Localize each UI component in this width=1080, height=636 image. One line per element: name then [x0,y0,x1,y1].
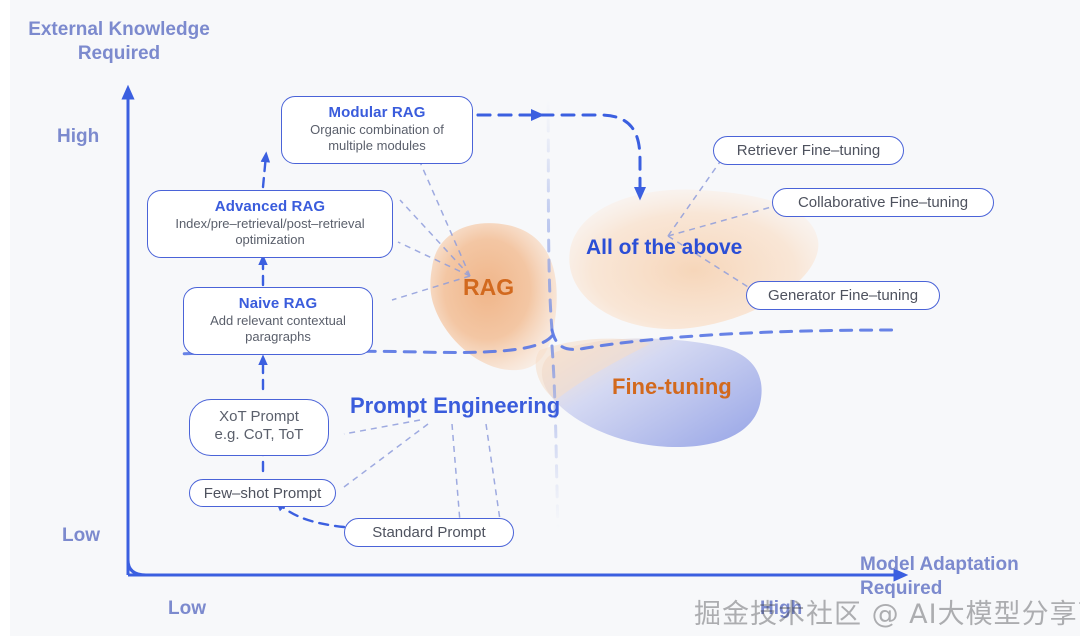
node-advanced-rag[interactable]: Advanced RAG Index/pre–retrieval/post–re… [147,190,393,258]
node-modular-rag[interactable]: Modular RAG Organic combination of multi… [281,96,473,164]
y-axis-title: External Knowledge Required [14,18,224,66]
x-axis-tick-low: Low [168,598,206,620]
node-advanced-rag-title: Advanced RAG [156,198,384,216]
leader-pe-extra [486,424,500,520]
region-label-prompt-engineering: Prompt Engineering [350,393,560,419]
region-label-rag: RAG [463,274,514,301]
pill-standard-prompt[interactable]: Standard Prompt [344,518,514,547]
node-xot-prompt-line1: XoT Prompt [198,408,320,426]
watermark: 掘金技术社区 @ AI大模型分享营 [694,592,1080,631]
node-xot-prompt[interactable]: XoT Prompt e.g. CoT, ToT [189,399,329,456]
y-axis-tick-low: Low [62,525,100,547]
leader-pe-fewshot [340,424,428,490]
pill-retriever-fine-tuning[interactable]: Retriever Fine–tuning [713,136,904,165]
region-label-all-of-the-above: All of the above [586,236,742,260]
pill-generator-fine-tuning-label: Generator Fine–tuning [768,287,918,304]
node-naive-rag[interactable]: Naive RAG Add relevant contextual paragr… [183,287,373,355]
node-naive-rag-title: Naive RAG [192,295,364,313]
x-axis-title-line1: Model Adaptation [860,554,1019,575]
pill-standard-prompt-label: Standard Prompt [372,524,485,541]
axis-corner [128,560,146,575]
pill-collaborative-fine-tuning-label: Collaborative Fine–tuning [798,194,968,211]
pill-few-shot-prompt[interactable]: Few–shot Prompt [189,479,336,507]
leader-pe-standard [452,424,460,522]
y-axis-title-line2: Required [78,43,160,64]
diagram-graphics [0,0,1080,636]
node-modular-rag-title: Modular RAG [290,104,464,122]
node-modular-rag-sub1: Organic combination of [290,122,464,138]
pill-collaborative-fine-tuning[interactable]: Collaborative Fine–tuning [772,188,994,217]
leader-pe-xot [344,420,420,434]
y-axis-tick-high: High [57,126,99,148]
y-axis-title-line1: External Knowledge [28,19,210,40]
diagram-canvas: External Knowledge Required High Low Mod… [0,0,1080,636]
pill-generator-fine-tuning[interactable]: Generator Fine–tuning [746,281,940,310]
node-advanced-rag-sub2: optimization [156,232,384,248]
node-naive-rag-sub2: paragraphs [192,329,364,345]
node-naive-rag-sub1: Add relevant contextual [192,313,364,329]
node-xot-prompt-line2: e.g. CoT, ToT [198,426,320,444]
node-advanced-rag-sub1: Index/pre–retrieval/post–retrieval [156,216,384,232]
arrow-advanced-to-modular [263,155,266,187]
pill-retriever-fine-tuning-label: Retriever Fine–tuning [737,142,880,159]
arrow-modular-to-all [478,115,640,196]
node-modular-rag-sub2: multiple modules [290,138,464,154]
pill-few-shot-prompt-label: Few–shot Prompt [204,485,322,502]
region-label-fine-tuning: Fine-tuning [612,374,732,400]
